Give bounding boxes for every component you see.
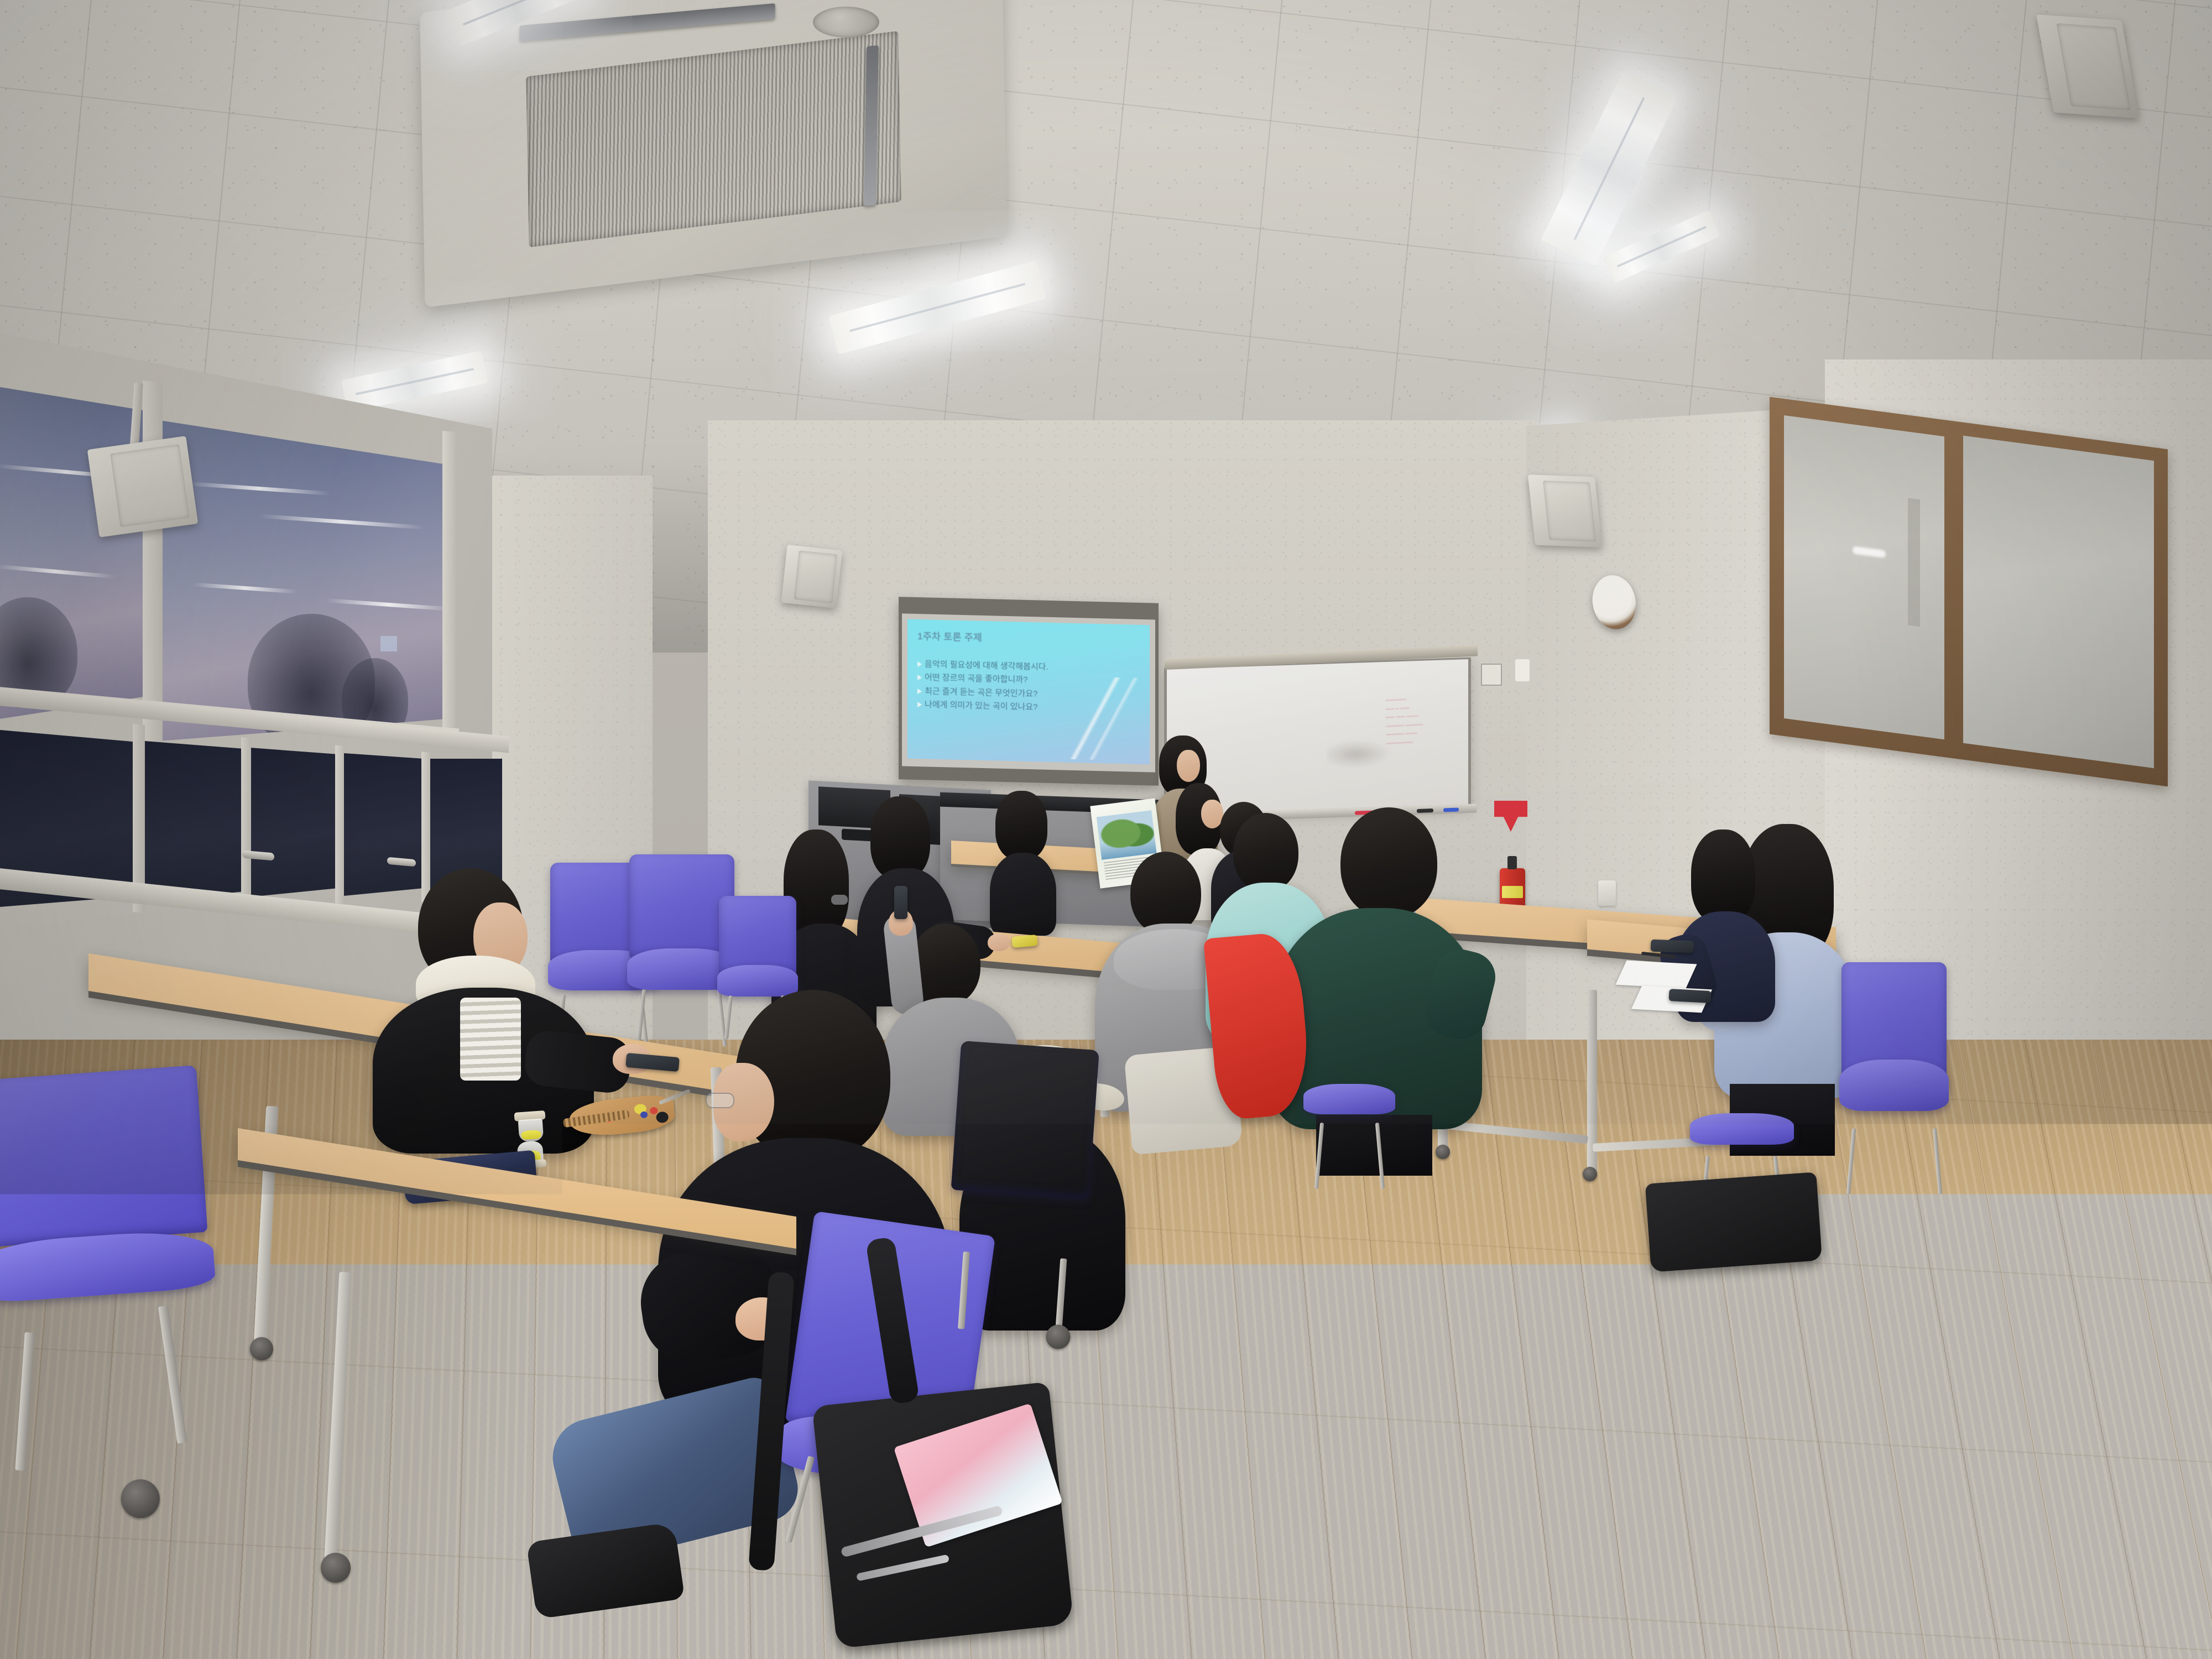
speaker-grille (1543, 481, 1596, 541)
chair-seat (1690, 1113, 1793, 1145)
hair (995, 791, 1047, 860)
window-reflection (192, 582, 298, 593)
interior-window (1770, 397, 2168, 787)
chair-leg (637, 989, 646, 1047)
wall-speaker (87, 436, 199, 537)
chair[interactable] (941, 1041, 1099, 1337)
ceiling-speaker-icon (813, 7, 879, 38)
sand-timer[interactable] (518, 1119, 544, 1142)
wall-outlet (1598, 880, 1616, 906)
window-mullion (442, 431, 456, 742)
eyeglasses (831, 895, 848, 905)
chair-leg (1846, 1128, 1856, 1194)
wall-notice (1481, 664, 1502, 686)
window-reflection (1908, 498, 1920, 627)
head (1130, 852, 1201, 935)
chair-back (951, 1041, 1099, 1199)
table-caster (250, 1337, 273, 1360)
window-mullion (241, 737, 251, 907)
chair-back (719, 896, 796, 977)
wall-speaker (781, 545, 842, 608)
chair-seat (1303, 1084, 1395, 1114)
sand (521, 1130, 541, 1140)
whiteboard-handwriting: ~~~~~~~ ~~~ ~ ~~~ ~~~ ~~~ ~~~~ ~~~~~~ ~~… (1385, 693, 1461, 748)
chair-leg (1314, 1123, 1324, 1189)
hair (870, 796, 930, 879)
light-switch (1515, 659, 1530, 681)
window-pane (159, 420, 447, 741)
eyeglasses (706, 1093, 734, 1108)
window-distant-light (380, 636, 397, 651)
classroom-photo: 1주차 토론 주제 음악의 필요성에 대해 생각해봅시다. 어떤 장르의 곡을 … (0, 0, 2212, 1659)
ac-grille (526, 31, 901, 248)
striped-shirt (460, 998, 521, 1081)
phone[interactable] (1651, 940, 1694, 953)
screen-glare (1052, 676, 1146, 761)
chair[interactable] (1841, 962, 1947, 1194)
chair[interactable] (0, 1065, 224, 1479)
window-lower-pane (250, 748, 338, 897)
face (1177, 750, 1200, 782)
slide-title: 1주차 토론 주제 (917, 628, 1142, 648)
window-reflection (325, 598, 447, 611)
window-mullion (335, 745, 344, 904)
guiro-dot (650, 1107, 658, 1114)
table-caster (1583, 1167, 1597, 1181)
table-caster (321, 1553, 351, 1583)
backpack[interactable] (1645, 1172, 1822, 1272)
chair-leg (1933, 1128, 1942, 1194)
chair-leg (15, 1332, 34, 1471)
window-pane (1784, 415, 1944, 739)
speaker-grille (110, 444, 189, 528)
chair[interactable] (1305, 1051, 1394, 1189)
speaker-grille (794, 551, 838, 603)
extinguisher-label (1502, 886, 1523, 898)
extinguisher-neck (1507, 856, 1517, 869)
presentation-slide: 1주차 토론 주제 음악의 필요성에 대해 생각해봅시다. 어떤 장르의 곡을 … (907, 619, 1150, 765)
phone[interactable] (1668, 989, 1711, 1003)
screen-surface: 1주차 토론 주제 음악의 필요성에 대해 생각해봅시다. 어떤 장르의 곡을 … (902, 613, 1155, 772)
window-mullion (143, 380, 163, 747)
projection-screen: 1주차 토론 주제 음악의 필요성에 대해 생각해봅시다. 어떤 장르의 곡을 … (899, 597, 1159, 785)
window-lower-pane (145, 741, 244, 901)
backpack[interactable] (812, 1382, 1074, 1649)
window-reflection (259, 514, 425, 530)
window-reflection (187, 482, 331, 495)
ac-vane (864, 45, 879, 206)
chair-leg (158, 1305, 187, 1443)
phone[interactable] (894, 886, 907, 919)
chair-seat (1839, 1060, 1949, 1110)
chair-leg (1375, 1123, 1385, 1189)
chair-back (0, 1065, 207, 1248)
window-pane (0, 387, 144, 719)
window-reflection (0, 564, 116, 578)
head (1340, 807, 1437, 918)
guiro-ridges (563, 1110, 630, 1128)
hair (1691, 830, 1755, 924)
wall-speaker (1528, 474, 1602, 547)
ac-vane (519, 3, 775, 41)
guiro-dot (640, 1111, 648, 1118)
backpack-zipper[interactable] (856, 1554, 950, 1582)
paper-folders[interactable] (894, 1403, 1063, 1547)
paper-sheet[interactable] (1615, 961, 1697, 989)
speaker-grille (2057, 24, 2131, 110)
whiteboard-smudge (1327, 739, 1391, 769)
window-pane (1963, 436, 2154, 768)
chair-leg (958, 1251, 970, 1329)
